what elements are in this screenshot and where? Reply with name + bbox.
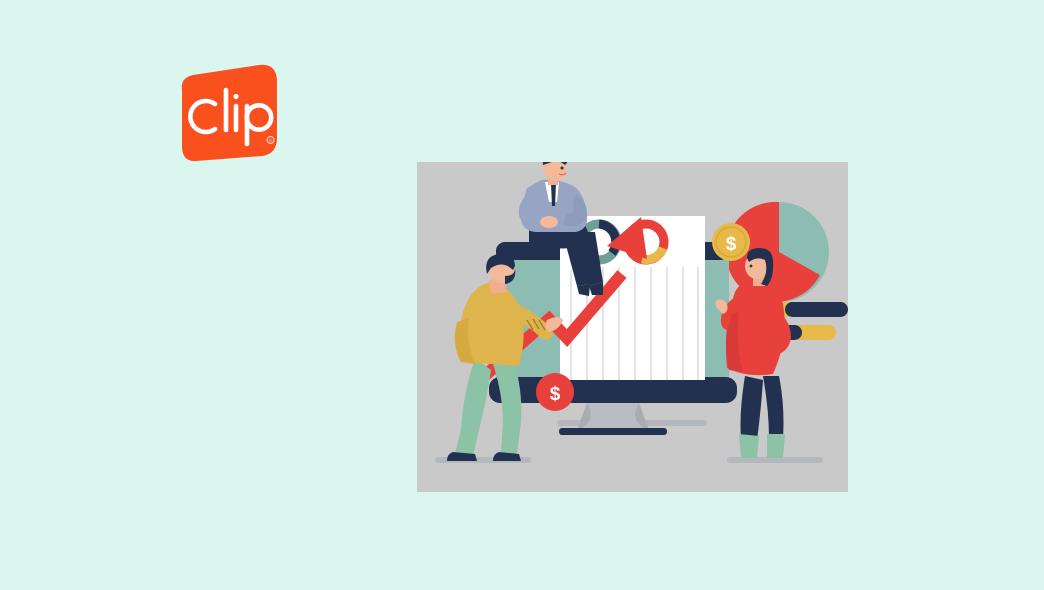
coin-gold-currency-symbol: $ [726, 234, 737, 255]
monitor-bottom-bezel [489, 377, 737, 403]
right-woman-boot-front [767, 434, 785, 458]
registered-mark-letter: R [269, 138, 272, 143]
page-canvas: R [0, 0, 1044, 590]
right-woman-eye [750, 265, 753, 268]
clip-logo-svg: R [166, 64, 281, 162]
illustration-svg: $ $ [417, 162, 848, 492]
right-woman-boot-back [739, 434, 759, 458]
suit-man-eye [561, 167, 564, 170]
clip-logo[interactable]: R [166, 64, 281, 162]
illustration-panel: $ $ [417, 162, 848, 492]
monitor-stand-base [559, 428, 667, 435]
suit-man-hands [540, 216, 558, 228]
coin-red-currency-symbol: $ [550, 384, 561, 405]
coin-gold: $ [712, 223, 750, 261]
logo-badge-shape [182, 65, 277, 161]
coin-red: $ [536, 373, 574, 411]
logo-letter-i-dot [233, 94, 238, 99]
bar-top-fill [785, 302, 848, 317]
